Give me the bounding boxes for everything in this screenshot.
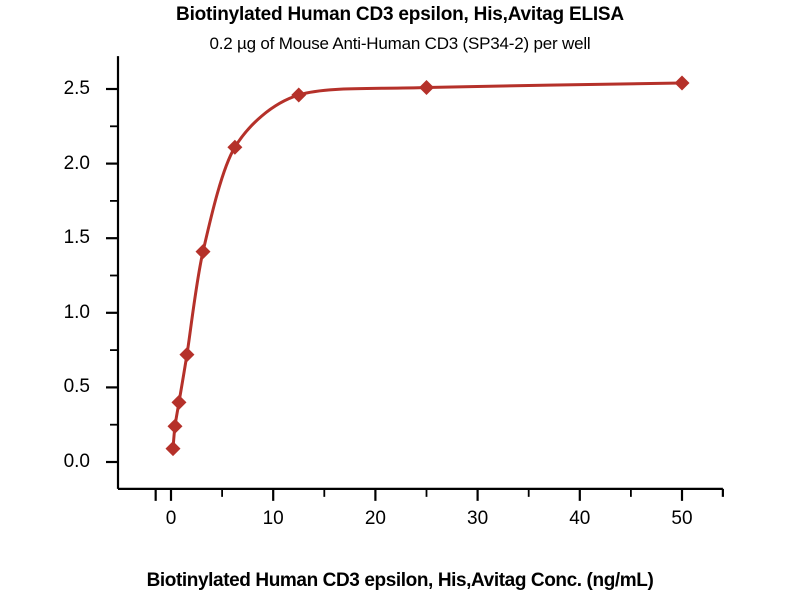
data-point-marker [291, 87, 306, 102]
data-point-marker [179, 347, 194, 362]
x-tick-label: 30 [448, 509, 508, 528]
y-tick-label: 1.0 [30, 303, 90, 322]
elisa-chart: Biotinylated Human CD3 epsilon, His,Avit… [0, 0, 800, 600]
series-layer [165, 76, 689, 457]
y-tick-label: 1.5 [30, 228, 90, 247]
y-tick-label: 0.0 [30, 452, 90, 471]
data-point-marker [195, 244, 210, 259]
data-point-marker [167, 419, 182, 434]
y-tick-label: 2.0 [30, 154, 90, 173]
data-point-marker [165, 441, 180, 456]
y-tick-label: 2.5 [30, 79, 90, 98]
data-point-marker [171, 395, 186, 410]
data-point-marker [419, 80, 434, 95]
x-tick-label: 20 [345, 509, 405, 528]
series-line [173, 83, 682, 449]
x-tick-label: 50 [652, 509, 712, 528]
data-point-marker [675, 76, 690, 91]
x-tick-label: 10 [243, 509, 303, 528]
x-tick-label: 40 [550, 509, 610, 528]
x-tick-label: 0 [141, 509, 201, 528]
data-point-marker [227, 140, 242, 155]
y-tick-label: 0.5 [30, 377, 90, 396]
